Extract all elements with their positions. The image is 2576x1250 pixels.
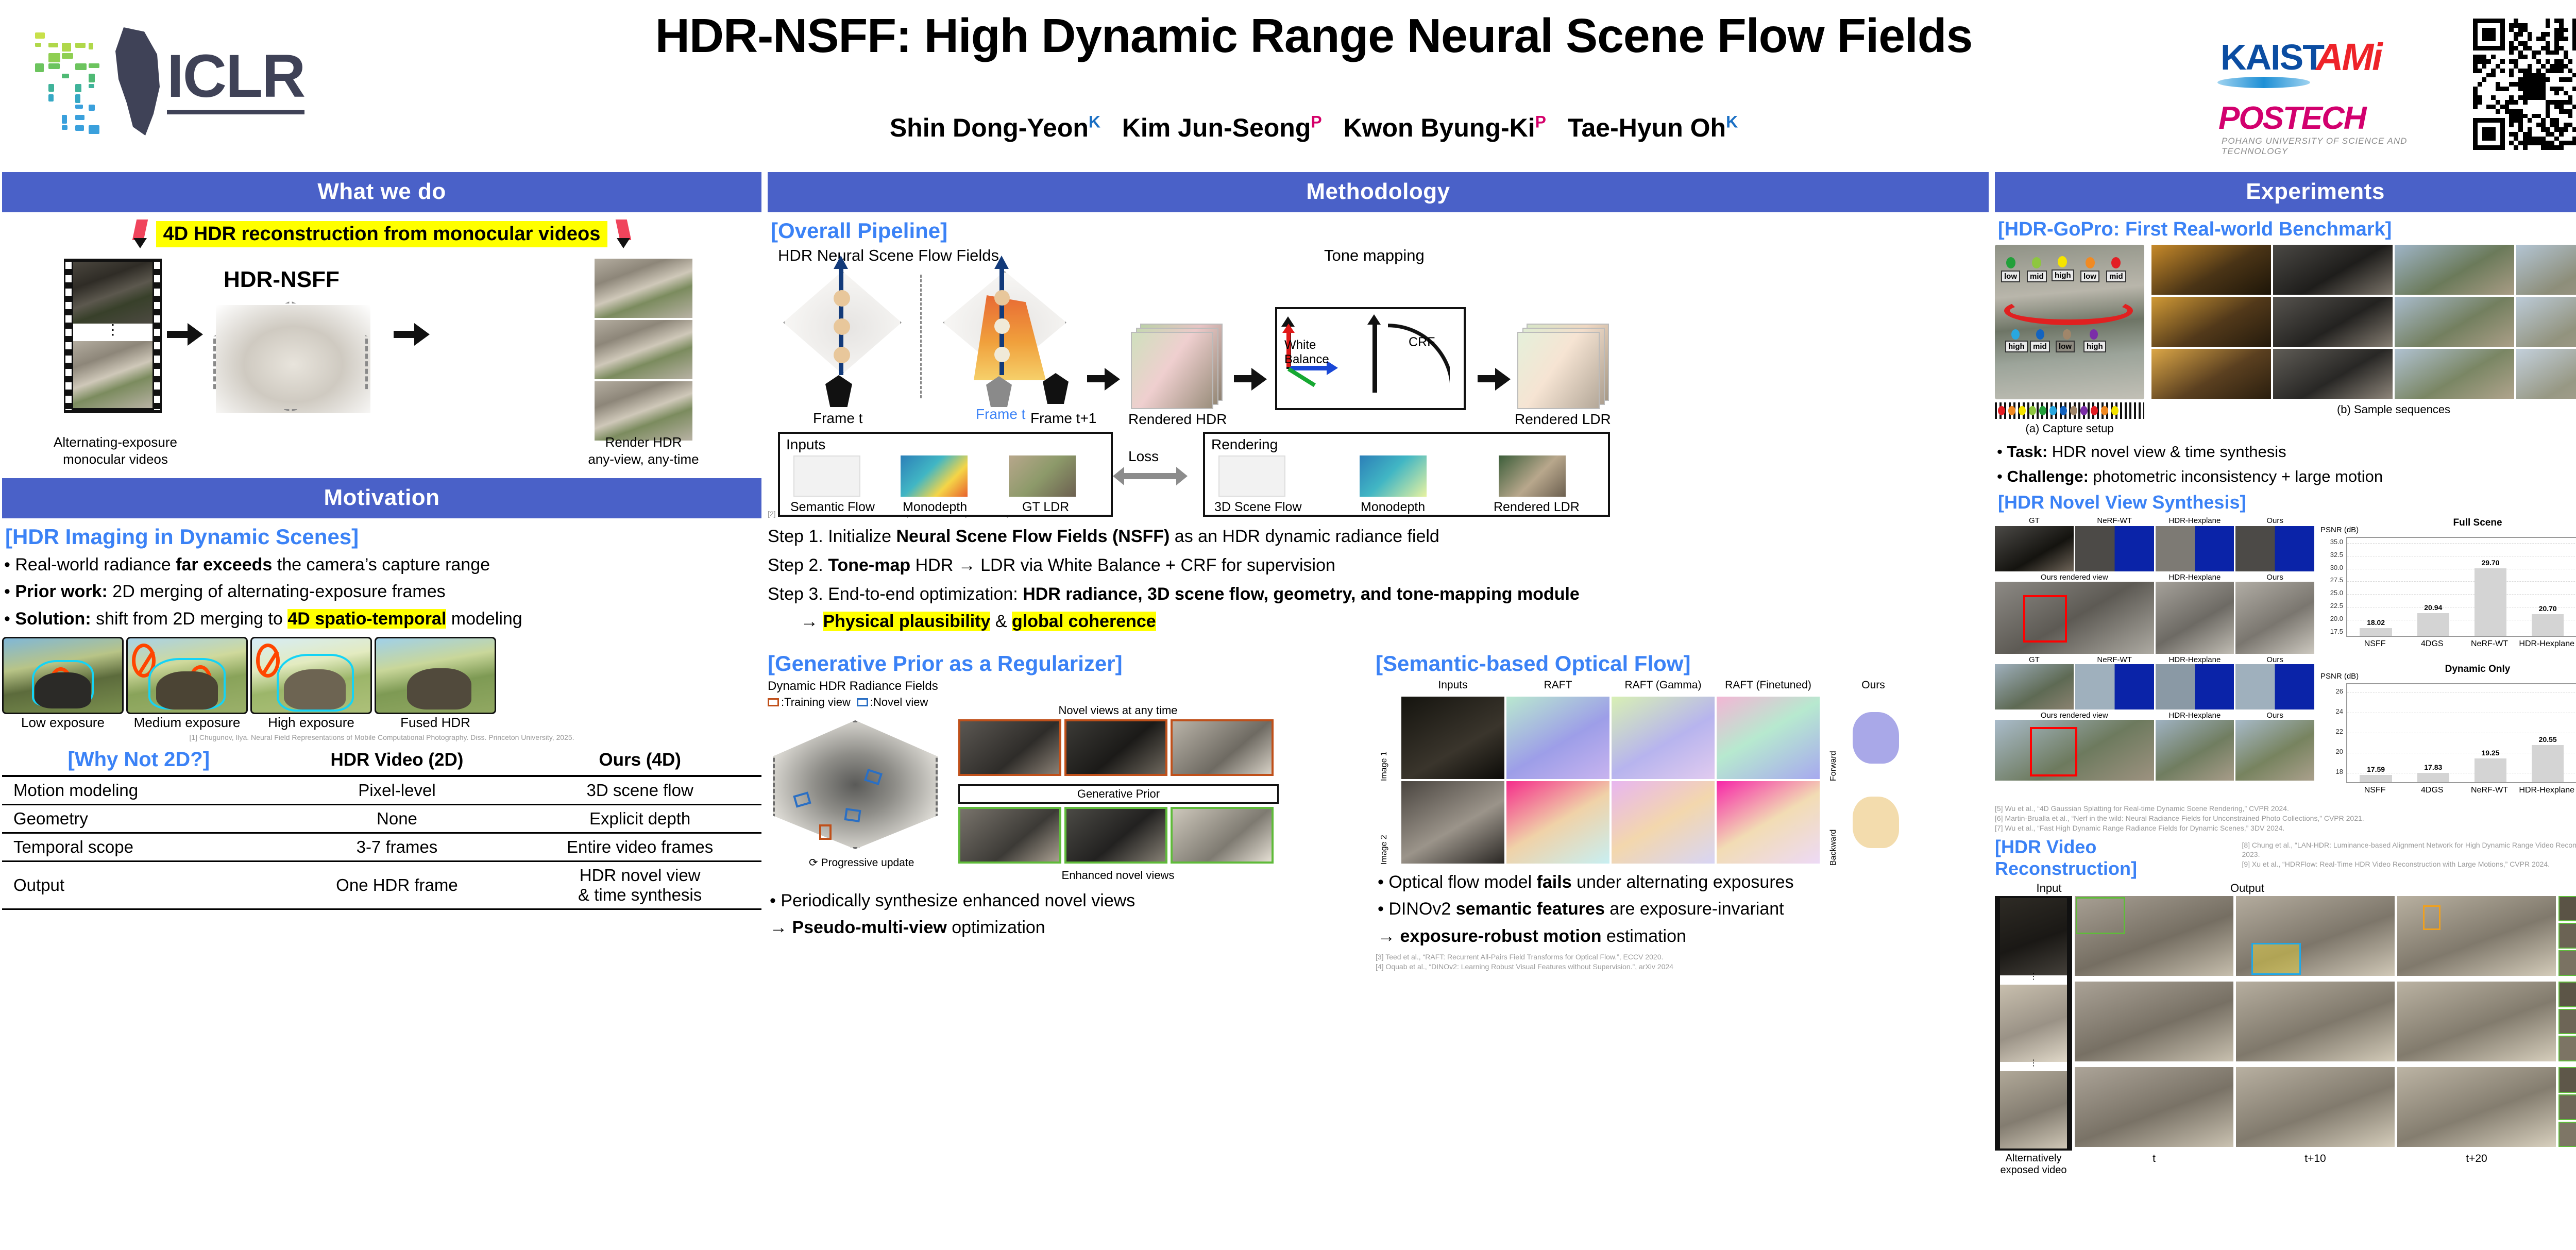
kaist-swoosh-icon [2217, 77, 2310, 88]
nvs-cell [2075, 526, 2154, 571]
gopro-figure: low mid high low mid high mid low high [1995, 245, 2576, 435]
of-bullet-1: • DINOv2 semantic features are exposure-… [1378, 897, 1973, 922]
of-col-label-2: RAFT (Gamma) [1612, 679, 1715, 691]
subhead-semantic-optical-flow: [Semantic-based Optical Flow] [1376, 651, 1973, 676]
vr-cell [2075, 896, 2233, 976]
sample-thumb [2516, 349, 2576, 399]
flow-cell [1612, 781, 1715, 864]
render-hdr-1 [595, 259, 692, 318]
motivation-bullet-2: • Solution: shift from 2D merging to 4D … [4, 606, 761, 632]
nvs-reference-1: [6] Martin-Brualla et al., “Nerf in the … [1995, 814, 2576, 823]
author-3: Tae-Hyun OhK [1568, 113, 1738, 142]
nvs-label-2: HDR-Hexplane [2156, 516, 2234, 525]
ami-logo: AMi [2316, 35, 2381, 79]
step-3-result: → Physical plausibility & global coheren… [801, 609, 1989, 634]
affiliation-logos: KAIST AMi POSTECH POHANG UNIVERSITY OF S… [2215, 8, 2463, 158]
vr-cell [2075, 982, 2233, 1061]
gp-bullet-0: • Periodically synthesize enhanced novel… [770, 888, 1360, 914]
novel-view-thumb [1171, 719, 1274, 776]
column-methodology: Methodology [Overall Pipeline] HDR Neura… [768, 172, 1989, 972]
generative-prior-panel: [Generative Prior as a Regularizer] Dyna… [768, 645, 1360, 972]
exposure-medium: Medium exposure [126, 637, 248, 731]
vr-crops [2558, 896, 2576, 976]
sample-thumb [2151, 349, 2271, 399]
optical-flow-panel: [Semantic-based Optical Flow] Inputs RAF… [1376, 645, 1973, 972]
nvs-midlabel-2: Ours [2235, 573, 2314, 582]
vr-output-label: Output [2119, 882, 2376, 895]
motivation-bullet-0: • Real-world radiance far exceeds the ca… [4, 552, 761, 578]
nvs-label2-1: NeRF-WT [2075, 655, 2154, 664]
zoom-box-icon [2030, 727, 2077, 776]
rendered-hdr-stack [1131, 324, 1224, 406]
generative-prior-bar: Generative Prior [958, 784, 1279, 804]
nvs-label-0: GT [1995, 516, 2074, 525]
of-col-label-3: RAFT (Finetuned) [1717, 679, 1820, 691]
color-dot [2011, 329, 2020, 340]
sample-thumb [2395, 245, 2514, 295]
flow-cell [1401, 697, 1504, 779]
tone-mapping-box: White Balance CRF [1275, 307, 1466, 410]
cam-chip-b0: high [2005, 341, 2028, 352]
table-row: Motion modeling Pixel-level 3D scene flo… [2, 776, 761, 805]
inputs-box-title: Inputs [780, 434, 1111, 453]
vr-cell [2397, 896, 2556, 976]
nvs-reference-0: [5] Wu et al., “4D Gaussian Splatting fo… [1995, 804, 2576, 814]
rendering-box: Rendering 3D Scene Flow Monodepth Render… [1203, 432, 1610, 517]
nvs-figure: GT NeRF-WT HDR-Hexplane Ours Ours render… [1995, 516, 2576, 802]
gp-enhanced-views-row [958, 807, 1274, 864]
nvs-cell [2156, 664, 2234, 710]
of-col-label-1: RAFT [1506, 679, 1609, 691]
nvs-cell [2156, 526, 2234, 571]
nvs-cell [2235, 526, 2314, 571]
table-row: Temporal scope 3-7 frames Entire video f… [2, 833, 761, 862]
render-hdr-2 [595, 320, 692, 379]
sample-thumb [2395, 297, 2514, 347]
nvs-cell-rendered [1995, 582, 2154, 654]
frame-label-1: Frame t [976, 406, 1025, 423]
flow-cell [1506, 697, 1609, 779]
sample-thumb [2273, 349, 2393, 399]
nvs-midlabel2-1: HDR-Hexplane [2156, 711, 2234, 720]
section-header-experiments: Experiments [1995, 172, 2576, 212]
novel-view-thumb [1064, 719, 1167, 776]
rendering-item-1: Monodepth [1361, 500, 1425, 515]
vr-cell [2075, 1067, 2233, 1147]
vr-cell [2236, 1067, 2395, 1147]
novel-view-icon [844, 808, 861, 822]
color-dot [2086, 257, 2095, 268]
section-header-methodology: Methodology [768, 172, 1989, 212]
vr-input-caption: Alternatively exposed video [1995, 1153, 2072, 1176]
author-1: Kim Jun-SeongP [1122, 113, 1322, 142]
flow-cell [1612, 697, 1715, 779]
of-row-label-image2: Image 2 [1380, 787, 1389, 865]
nvs-label2-2: HDR-Hexplane [2156, 655, 2234, 664]
of-row-label-image1: Image 1 [1380, 704, 1389, 781]
column-left: What we do 4D HDR reconstruction from mo… [2, 172, 761, 910]
hdr-nsff-label: HDR-NSFF [224, 267, 340, 293]
color-dot [2032, 257, 2041, 268]
author-0: Shin Dong-YeonK [890, 113, 1100, 142]
gp-bottom-caption: Enhanced novel views [958, 869, 1278, 882]
vr-input-label: Input [2010, 882, 2088, 895]
exposure-label-2: High exposure [250, 714, 372, 731]
cam-chip-b3: high [2083, 341, 2106, 352]
left-caption: Alternating-exposuremonocular videos [33, 434, 198, 467]
exposure-high: High exposure [250, 637, 372, 731]
exposure-fused: Fused HDR [375, 637, 496, 731]
nvs-midlabel-0: Ours rendered view [1995, 573, 2154, 582]
pencil-icon [612, 219, 634, 248]
color-dot [2063, 329, 2071, 340]
optical-flow-grid [1401, 697, 1925, 864]
exp-bullet-1: • Challenge: photometric inconsistency +… [1997, 465, 2576, 488]
nvs-midlabel-1: HDR-Hexplane [2156, 573, 2234, 582]
motivation-bullet-1: • Prior work: 2D merging of alternating-… [4, 579, 761, 604]
of-reference-0: [3] Teed et al., “RAFT: Recurrent All-Pa… [1376, 952, 1973, 962]
capture-setup: low mid high low mid high mid low high [1995, 245, 2144, 435]
sample-thumb [2151, 297, 2271, 347]
cam-chip-1: mid [2027, 271, 2047, 282]
caption-a: (a) Capture setup [1995, 422, 2144, 435]
vr-time-0: t [2075, 1153, 2233, 1176]
novel-view-icon [857, 698, 868, 706]
vr-reference-0: [8] Chung et al., “LAN-HDR: Luminance-ba… [2242, 840, 2576, 860]
sample-thumb [2273, 245, 2393, 295]
color-dot [2090, 329, 2098, 340]
chart-full-scene[interactable]: Full ScenePSNR (dB)18.0220.9429.7020.703… [2319, 516, 2576, 655]
vr-time-2: t+20 [2397, 1153, 2556, 1176]
iclr-logo-text: ICLR [167, 46, 304, 114]
cam-chip-b2: low [2056, 341, 2075, 352]
white-balance-label: White Balance [1284, 338, 1329, 367]
right-caption: Render HDRany-view, any-time [558, 434, 728, 467]
section-header-motivation: Motivation [2, 478, 761, 518]
vr-cell [2397, 982, 2556, 1061]
postech-logo: POSTECH [2218, 100, 2366, 137]
of-bullet-2: → exposure-robust motion estimation [1378, 924, 1973, 949]
gp-novel-views-row [958, 719, 1274, 776]
video-recon-grid: ⋮ ⋮ [1995, 896, 2576, 1151]
color-dot [2058, 256, 2067, 267]
nvs-cell [2075, 664, 2154, 710]
nvs-label-1: NeRF-WT [2075, 516, 2154, 525]
kaist-logo: KAIST [2221, 37, 2324, 78]
what-we-do-figure: ⋮ HDR-NSFF Alternating-exposuremonocular… [2, 254, 761, 475]
of-row-label-forward: Forward [1829, 704, 1838, 781]
render-hdr-3 [595, 381, 692, 441]
nvs-midlabel2-0: Ours rendered view [1995, 711, 2154, 720]
rendering-box-title: Rendering [1205, 434, 1608, 453]
qr-code-icon[interactable] [2473, 19, 2576, 150]
inputs-item-2: GT LDR [1022, 500, 1069, 515]
why-not-2d-table: [Why Not 2D?] HDR Video (2D) Ours (4D) M… [2, 745, 761, 910]
pipeline-title-right: Tone mapping [1324, 246, 1425, 265]
exposure-label-1: Medium exposure [126, 714, 248, 731]
sample-thumb [2151, 245, 2271, 295]
sample-sequences: (b) Sample sequences [2151, 245, 2576, 435]
camera-icon [1043, 373, 1069, 404]
camera-icon [825, 375, 852, 407]
rendered-ldr-stack [1517, 324, 1610, 406]
section-header-what-we-do: What we do [2, 172, 761, 212]
color-dot [2006, 257, 2015, 268]
rendered-ldr-label: Rendered LDR [1515, 411, 1611, 428]
of-col-label-0: Inputs [1401, 679, 1504, 691]
gp-bullet-1: → Pseudo-multi-view optimization [770, 915, 1360, 940]
training-view-icon [768, 698, 779, 706]
pipeline-title-left: HDR Neural Scene Flow Fields [778, 246, 999, 265]
vr-cell [2397, 1067, 2556, 1147]
exposure-label-3: Fused HDR [375, 714, 496, 731]
nvs-cell [1995, 664, 2074, 710]
sample-thumb [2516, 245, 2576, 295]
cam-chip-b1: mid [2030, 341, 2050, 352]
flow-cell [1506, 781, 1609, 864]
cam-chip-4: mid [2106, 271, 2126, 282]
exposure-filmstrip-icon [1995, 402, 2144, 419]
vr-crops [2558, 982, 2576, 1061]
input-filmstrip: ⋮ [64, 259, 162, 413]
input-filmstrip: ⋮ ⋮ [1995, 896, 2072, 1151]
cam-chip-2: high [2052, 269, 2074, 281]
rendered-hdr-label: Rendered HDR [1128, 411, 1227, 428]
nvs-cell [2235, 720, 2314, 781]
camera-rig-photo: low mid high low mid high mid low high [1995, 245, 2144, 399]
nvs-label2-3: Ours [2235, 655, 2314, 664]
nvs-charts: Full ScenePSNR (dB)18.0220.9429.7020.703… [2319, 516, 2576, 802]
flow-cell [1717, 697, 1820, 779]
inputs-item-1: Monodepth [903, 500, 967, 515]
nvs-qualitative: GT NeRF-WT HDR-Hexplane Ours Ours render… [1995, 516, 2314, 802]
iclr-mosaic-icon [31, 23, 160, 137]
nvs-cell [1995, 526, 2074, 571]
crf-label: CRF [1409, 335, 1435, 350]
sample-thumb [2516, 297, 2576, 347]
enhanced-view-thumb [1064, 807, 1167, 864]
page-title: HDR-NSFF: High Dynamic Range Neural Scen… [433, 9, 2195, 62]
table-col-0: HDR Video (2D) [276, 745, 519, 776]
table-row: Output One HDR frame HDR novel view & ti… [2, 862, 761, 909]
postech-subtitle: POHANG UNIVERSITY OF SCIENCE AND TECHNOL… [2222, 136, 2463, 157]
subhead-hdr-gopro: [HDR-GoPro: First Real-world Benchmark] [1998, 218, 2576, 241]
vr-time-1: t+10 [2236, 1153, 2395, 1176]
rendering-item-2: Rendered LDR [1494, 500, 1580, 515]
step-3: Step 3. End-to-end optimization: HDR rad… [768, 582, 1989, 606]
training-view-icon [819, 824, 832, 840]
step-1: Step 1. Initialize Neural Scene Flow Fie… [768, 524, 1989, 549]
sample-thumb [2273, 297, 2393, 347]
iclr-logo: ICLR [31, 15, 402, 144]
exposure-label-0: Low exposure [2, 714, 124, 731]
enhanced-view-thumb [958, 807, 1061, 864]
subhead-overall-pipeline: [Overall Pipeline] [771, 218, 1989, 243]
iclr-head-shape [108, 27, 160, 136]
loss-label: Loss [1128, 448, 1159, 465]
rendering-item-0: 3D Scene Flow [1214, 500, 1302, 515]
rotation-arrow-icon [2004, 296, 2133, 325]
exposure-low: Low exposure [2, 637, 124, 731]
render-outputs [595, 259, 692, 441]
author-list: Shin Dong-YeonK Kim Jun-SeongP Kwon Byun… [433, 112, 2195, 143]
subhead-hdr-imaging: [HDR Imaging in Dynamic Scenes] [5, 525, 761, 549]
of-row-label-backward: Backward [1829, 788, 1838, 866]
nvs-label2-0: GT [1995, 655, 2074, 664]
exposure-examples: Low exposure Medium exposure High exposu… [2, 637, 761, 731]
frame-label-0: Frame t [813, 410, 862, 427]
column-experiments: Experiments [HDR-GoPro: First Real-world… [1995, 172, 2576, 1176]
inputs-box: Inputs Semantic Flow Monodepth GT LDR [778, 432, 1113, 517]
color-dot [2111, 257, 2121, 268]
flow-cell [1401, 781, 1504, 864]
enhanced-view-thumb [1171, 807, 1274, 864]
exp-bullet-0: • Task: HDR novel view & time synthesis [1997, 441, 2576, 464]
table-row: Geometry None Explicit depth [2, 805, 761, 833]
banner-text: 4D HDR reconstruction from monocular vid… [156, 221, 608, 247]
novel-view-thumb [958, 719, 1061, 776]
pencil-icon [129, 219, 152, 248]
radiance-field-volume [773, 720, 938, 849]
gp-top-caption: Novel views at any time [958, 704, 1278, 717]
gp-left-title: Dynamic HDR Radiance Fields [768, 679, 1360, 694]
nvs-cell [2235, 582, 2314, 654]
caption-b: (b) Sample sequences [2151, 403, 2576, 416]
frame-label-2: Frame t+1 [1030, 410, 1096, 427]
zoom-box-icon [2023, 595, 2067, 643]
nvs-cell [2156, 582, 2234, 654]
vr-crops [2558, 1067, 2576, 1147]
nvs-cell-rendered [1995, 720, 2154, 781]
table-title: [Why Not 2D?] [68, 748, 210, 771]
cam-chip-3: low [2080, 271, 2099, 282]
nvs-label-3: Ours [2235, 516, 2314, 525]
inputs-item-0: Semantic Flow [790, 500, 875, 515]
cam-chip-0: low [2001, 271, 2020, 282]
pipeline-figure: HDR Neural Scene Flow Fields Tone mappin… [768, 246, 1989, 488]
of-col-label-4: Ours [1822, 679, 1925, 691]
subhead-hdr-video-recon: [HDR Video Reconstruction] [1995, 836, 2236, 880]
vr-cell [2236, 896, 2395, 976]
vr-reference-1: [9] Xu et al., “HDRFlow: Real-Time HDR V… [2242, 859, 2576, 869]
subhead-generative-prior: [Generative Prior as a Regularizer] [768, 651, 1360, 676]
progressive-update-label: ⟳ Progressive update [809, 856, 914, 869]
color-dot [2036, 329, 2044, 340]
motivation-reference: [1] Chugunov, Ilya. Neural Field Represe… [2, 733, 761, 742]
nvs-cell [2156, 720, 2234, 781]
nvs-cell [2235, 664, 2314, 710]
table-header-row: [Why Not 2D?] HDR Video (2D) Ours (4D) [2, 745, 761, 776]
poster-header: ICLR HDR-NSFF: High Dynamic Range Neural… [0, 0, 2576, 170]
what-we-do-banner: 4D HDR reconstruction from monocular vid… [2, 219, 761, 248]
flow-cell [1717, 781, 1820, 864]
step-2: Step 2. Tone-map HDR → LDR via White Bal… [768, 553, 1989, 578]
camera-icon [986, 376, 1012, 407]
nvs-midlabel2-2: Ours [2235, 711, 2314, 720]
sample-thumb [2395, 349, 2514, 399]
subhead-hdr-nvs: [HDR Novel View Synthesis] [1998, 492, 2576, 513]
table-col-1: Ours (4D) [518, 745, 761, 776]
nvs-reference-2: [7] Wu et al., “Fast High Dynamic Range … [1995, 823, 2576, 833]
chart-dynamic-only[interactable]: Dynamic OnlyPSNR (dB)17.5917.8319.2520.5… [2319, 663, 2576, 802]
vr-cell [2236, 982, 2395, 1061]
of-reference-1: [4] Oquab et al., “DINOv2: Learning Robu… [1376, 962, 1973, 972]
author-2: Kwon Byung-KiP [1343, 113, 1546, 142]
